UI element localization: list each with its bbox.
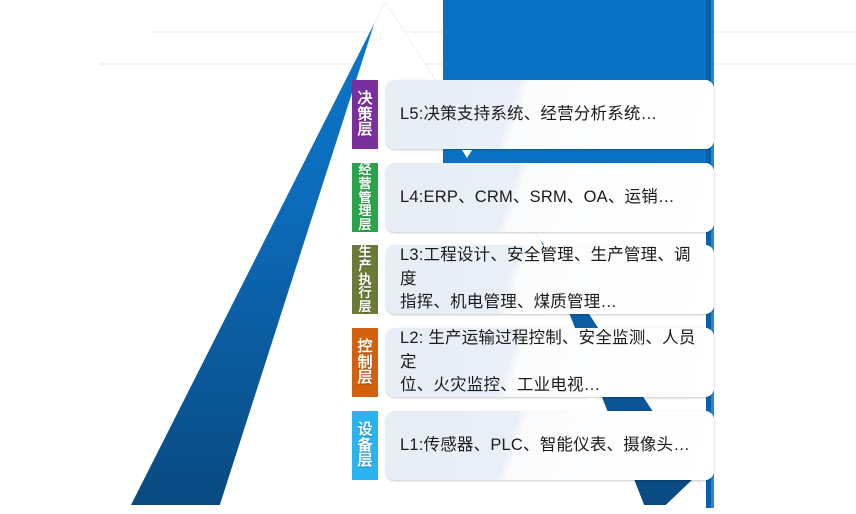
layer-tag-char: 生 (358, 245, 371, 259)
layer-tag-char: 层 (357, 370, 372, 386)
layer-tag-l1: 设 备 层 (352, 411, 378, 480)
layer-tag-char: 决 (357, 91, 372, 107)
divider-marker-3 (546, 316, 556, 324)
layer-row-l1[interactable]: 设 备 层 L1:传感器、PLC、智能仪表、摄像头… (352, 411, 714, 480)
layer-card-text-l1: L1:传感器、PLC、智能仪表、摄像头… (386, 434, 704, 457)
layer-card-text-l4: L4:ERP、CRM、SRM、OA、运销… (386, 186, 689, 209)
layer-tag-l3: 生 产 执 行 层 (352, 245, 378, 314)
layer-tag-char: 经 (358, 163, 371, 177)
layer-tag-char: 行 (358, 286, 371, 300)
layer-tag-l2: 控 制 层 (352, 328, 378, 397)
layer-card-l1[interactable]: L1:传感器、PLC、智能仪表、摄像头… (386, 411, 714, 480)
layer-tag-l5: 决 策 层 (352, 80, 378, 149)
divider-marker-4 (588, 398, 598, 406)
layer-tag-l4: 经 营 管 理 层 (352, 163, 378, 232)
layer-row-l3[interactable]: 生 产 执 行 层 L3:工程设计、安全管理、生产管理、调度 指挥、机电管理、煤… (352, 245, 714, 314)
layer-tag-char: 控 (357, 339, 372, 355)
layer-tag-char: 层 (358, 300, 371, 314)
layer-rows: 决 策 层 L5:决策支持系统、经营分析系统… 经 营 管 理 层 L4:ERP… (0, 0, 856, 514)
layer-row-l2[interactable]: 控 制 层 L2: 生产运输过程控制、安全监测、人员定 位、火灾监控、工业电视… (352, 328, 714, 397)
layer-tag-char: 理 (358, 204, 371, 218)
divider-marker-2 (504, 234, 514, 242)
layer-tag-char: 管 (358, 191, 371, 205)
layer-card-text-l2: L2: 生产运输过程控制、安全监测、人员定 位、火灾监控、工业电视… (386, 328, 714, 397)
layer-card-l5[interactable]: L5:决策支持系统、经营分析系统… (386, 80, 714, 149)
layer-card-text-l5: L5:决策支持系统、经营分析系统… (386, 103, 671, 126)
layer-card-text-l3: L3:工程设计、安全管理、生产管理、调度 指挥、机电管理、煤质管理… (386, 245, 714, 314)
layer-tag-char: 产 (358, 259, 371, 273)
divider-marker-1 (462, 150, 472, 158)
layer-row-l4[interactable]: 经 营 管 理 层 L4:ERP、CRM、SRM、OA、运销… (352, 163, 714, 232)
layer-tag-char: 层 (358, 218, 371, 232)
diagram-canvas: 决 策 层 L5:决策支持系统、经营分析系统… 经 营 管 理 层 L4:ERP… (0, 0, 856, 514)
layer-row-l5[interactable]: 决 策 层 L5:决策支持系统、经营分析系统… (352, 80, 714, 149)
layer-card-l3[interactable]: L3:工程设计、安全管理、生产管理、调度 指挥、机电管理、煤质管理… (386, 245, 714, 314)
layer-tag-char: 层 (357, 122, 372, 138)
layer-tag-char: 层 (357, 453, 372, 469)
layer-card-l4[interactable]: L4:ERP、CRM、SRM、OA、运销… (386, 163, 714, 232)
layer-card-l2[interactable]: L2: 生产运输过程控制、安全监测、人员定 位、火灾监控、工业电视… (386, 328, 714, 397)
layer-tag-char: 设 (357, 422, 372, 438)
layer-tag-char: 营 (358, 177, 371, 191)
